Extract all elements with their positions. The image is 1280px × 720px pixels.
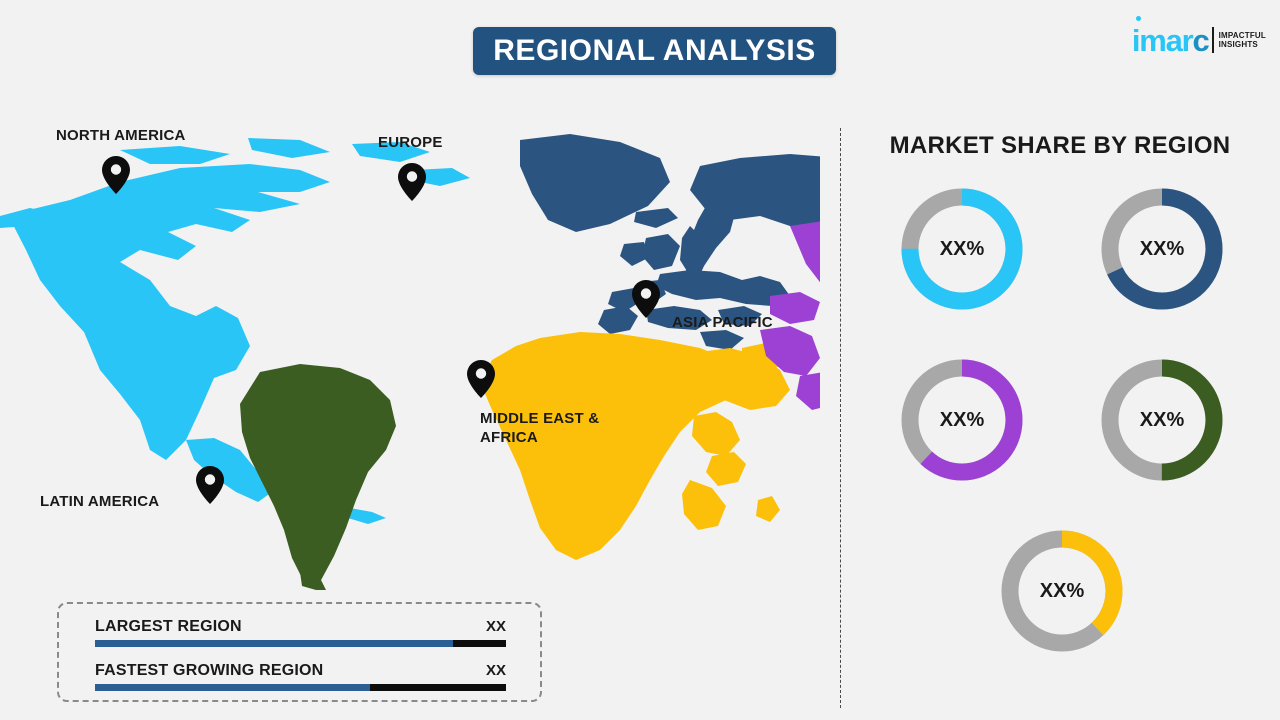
logo-dot-icon — [1136, 16, 1141, 21]
map-label-north-america: NORTH AMERICA — [56, 127, 186, 146]
largest-region-bar-fill — [95, 640, 453, 647]
region-summary-box: LARGEST REGION XX FASTEST GROWING REGION… — [57, 602, 542, 702]
donut-row-1: XX% XX% — [862, 182, 1262, 316]
map-region-latin-america — [240, 364, 396, 590]
map-label-middle-east-africa: MIDDLE EAST & AFRICA — [480, 410, 599, 448]
map-pin-europe — [398, 163, 426, 201]
logo-wordmark: imarc — [1132, 25, 1209, 56]
section-divider — [840, 128, 841, 708]
fastest-growing-region-value: XX — [486, 662, 506, 679]
map-label-asia-pacific: ASIA PACIFIC — [672, 314, 773, 333]
logo-tagline-line1: IMPACTFUL — [1219, 31, 1266, 40]
fastest-growing-region-label: FASTEST GROWING REGION — [95, 662, 323, 680]
page-title: REGIONAL ANALYSIS — [493, 34, 815, 68]
fastest-growing-region-bar-fill — [95, 684, 370, 691]
panel-title: MARKET SHARE BY REGION — [840, 132, 1280, 160]
map-label-europe: EUROPE — [378, 134, 443, 153]
imarc-logo: imarc IMPACTFUL INSIGHTS — [1132, 22, 1266, 58]
fastest-growing-region-bar-track — [95, 684, 506, 691]
largest-region-label: LARGEST REGION — [95, 618, 242, 636]
logo-wordmark-last: c — [1193, 23, 1209, 58]
donut-latin-america-label: XX% — [1095, 353, 1229, 487]
donut-europe-label: XX% — [1095, 182, 1229, 316]
largest-region-bar-track — [95, 640, 506, 647]
map-pin-asia-pacific — [632, 280, 660, 318]
donut-middle-east-africa-label: XX% — [995, 524, 1129, 658]
map-region-europe — [520, 134, 820, 350]
logo-tagline-line2: INSIGHTS — [1219, 40, 1266, 49]
logo-wordmark-main: imar — [1132, 23, 1193, 58]
page-title-banner: REGIONAL ANALYSIS — [473, 27, 836, 75]
logo-divider — [1212, 27, 1214, 53]
donut-asia-pacific: XX% — [895, 353, 1029, 487]
fastest-growing-region-row: FASTEST GROWING REGION XX — [95, 662, 506, 691]
map-pin-latin-america — [196, 466, 224, 504]
regional-analysis-infographic: REGIONAL ANALYSIS imarc IMPACTFUL INSIGH… — [0, 0, 1280, 720]
donut-middle-east-africa: XX% — [995, 524, 1129, 658]
donut-north-america-label: XX% — [895, 182, 1029, 316]
largest-region-row: LARGEST REGION XX — [95, 618, 506, 647]
donut-row-3: XX% — [862, 524, 1262, 658]
largest-region-value: XX — [486, 618, 506, 635]
donut-europe: XX% — [1095, 182, 1229, 316]
donut-row-2: XX% XX% — [862, 353, 1262, 487]
map-label-latin-america: LATIN AMERICA — [40, 493, 159, 512]
logo-tagline: IMPACTFUL INSIGHTS — [1219, 31, 1266, 49]
donut-latin-america: XX% — [1095, 353, 1229, 487]
market-share-donuts: XX% XX% XX% — [862, 182, 1262, 695]
donut-north-america: XX% — [895, 182, 1029, 316]
donut-asia-pacific-label: XX% — [895, 353, 1029, 487]
map-pin-middle-east-africa — [467, 360, 495, 398]
map-pin-north-america — [102, 156, 130, 194]
